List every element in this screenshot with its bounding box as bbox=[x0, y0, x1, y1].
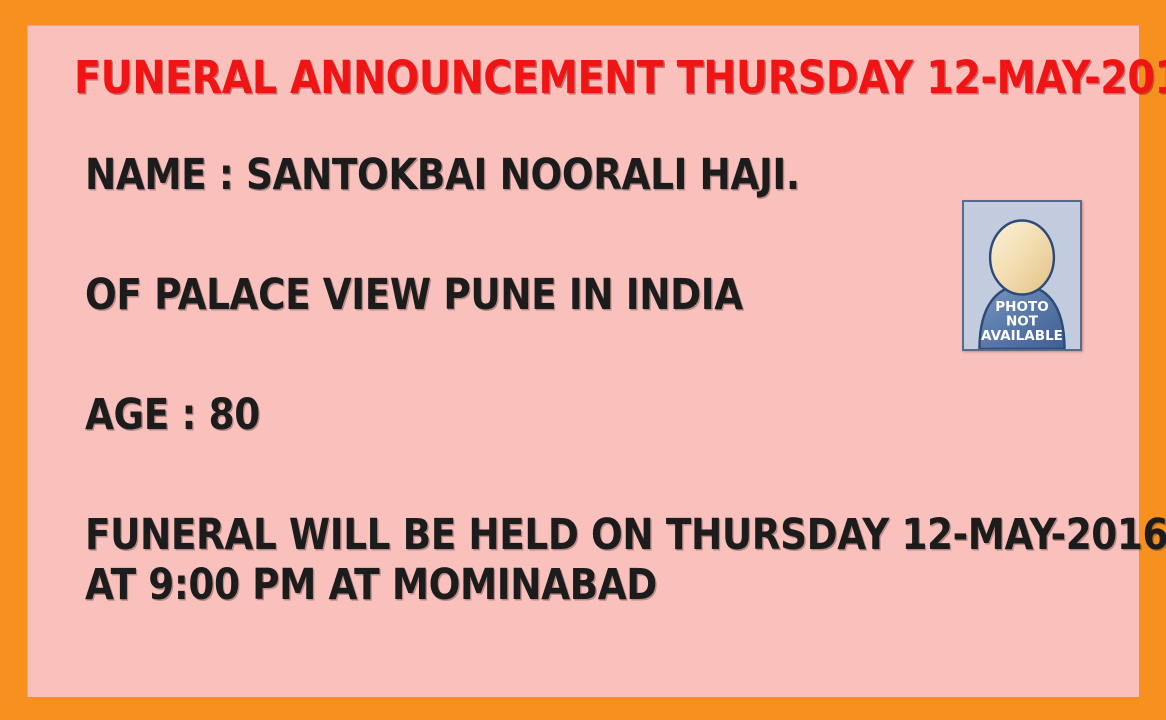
avatar-head-shape bbox=[990, 220, 1054, 294]
photo-not-available-placeholder: PHOTO NOT AVAILABLE bbox=[962, 200, 1082, 351]
deceased-name-line: NAME : SANTOKBAI NOORALI HAJI. bbox=[85, 150, 800, 200]
age-line: AGE : 80 bbox=[85, 390, 260, 440]
photo-label-line-3: AVAILABLE bbox=[981, 328, 1063, 344]
funeral-details-line-1: FUNERAL WILL BE HELD ON THURSDAY 12-MAY-… bbox=[85, 510, 1166, 560]
announcement-headline: FUNERAL ANNOUNCEMENT THURSDAY 12-MAY-201… bbox=[74, 52, 1166, 104]
funeral-details-line-2: AT 9:00 PM AT MOMINABAD bbox=[85, 560, 657, 610]
funeral-announcement-poster: FUNERAL ANNOUNCEMENT THURSDAY 12-MAY-201… bbox=[0, 0, 1166, 720]
announcement-panel: FUNERAL ANNOUNCEMENT THURSDAY 12-MAY-201… bbox=[27, 25, 1139, 697]
residence-line: OF PALACE VIEW PUNE IN INDIA bbox=[85, 270, 743, 320]
photo-not-available-icon: PHOTO NOT AVAILABLE bbox=[964, 202, 1080, 349]
